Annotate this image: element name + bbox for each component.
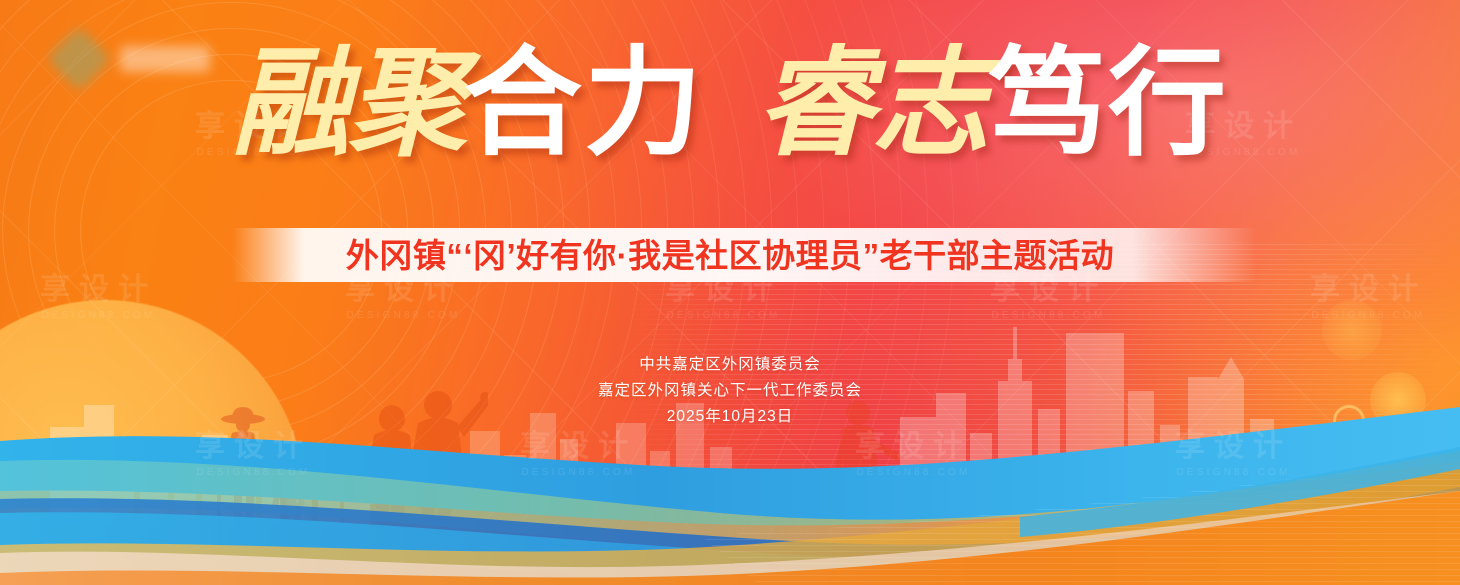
headline-part1-white: 合力	[464, 33, 704, 172]
watermark-text: 享设计	[520, 432, 637, 462]
watermark-text: 享设计	[855, 432, 972, 462]
watermark-url: DESIGN88.COM	[1310, 310, 1427, 321]
watermark-url: DESIGN88.COM	[855, 467, 972, 478]
watermark: 享设计DESIGN88.COM	[345, 275, 462, 321]
page-title: 融聚合力睿志笃行	[0, 44, 1460, 162]
watermark: 享设计DESIGN88.COM	[855, 432, 972, 478]
organizer-line: 嘉定区外冈镇关心下一代工作委员会	[0, 378, 1460, 404]
watermark: 享设计DESIGN88.COM	[1175, 432, 1292, 478]
bokeh-dot	[1370, 430, 1378, 438]
watermark-url: DESIGN88.COM	[195, 467, 312, 478]
watermark-text: 享设计	[1175, 432, 1292, 462]
bokeh-dot	[1400, 440, 1460, 518]
headline-part2-gold: 睿志	[756, 33, 988, 172]
watermark-url: DESIGN88.COM	[990, 310, 1107, 321]
watermark: 享设计DESIGN88.COM	[665, 275, 782, 321]
subtitle-text: 外冈镇“‘冈’好有你·我是社区协理员”老干部主题活动	[0, 231, 1460, 281]
watermark-url: DESIGN88.COM	[1175, 467, 1292, 478]
headline-part2-white: 笃行	[988, 33, 1228, 172]
organizer-line: 中共嘉定区外冈镇委员会	[0, 352, 1460, 378]
watermark-url: DESIGN88.COM	[520, 467, 637, 478]
headline-part1-gold: 融聚	[232, 33, 464, 172]
watermark: 享设计DESIGN88.COM	[1310, 275, 1427, 321]
watermark-text: 享设计	[195, 432, 312, 462]
watermark: 享设计DESIGN88.COM	[195, 432, 312, 478]
organizer-block: 中共嘉定区外冈镇委员会嘉定区外冈镇关心下一代工作委员会2025年10月23日	[0, 352, 1460, 430]
watermark: 享设计DESIGN88.COM	[520, 432, 637, 478]
event-poster: 享设计DESIGN88.COM享设计DESIGN88.COM享设计DESIGN8…	[0, 0, 1460, 585]
bokeh-dot	[1322, 300, 1382, 360]
bokeh-dot	[1260, 455, 1330, 525]
watermark-url: DESIGN88.COM	[345, 310, 462, 321]
watermark: 享设计DESIGN88.COM	[990, 275, 1107, 321]
event-date: 2025年10月23日	[0, 404, 1460, 430]
watermark-url: DESIGN88.COM	[40, 310, 157, 321]
watermark: 享设计DESIGN88.COM	[40, 275, 157, 321]
sun-circle	[0, 300, 305, 585]
watermark-url: DESIGN88.COM	[665, 310, 782, 321]
